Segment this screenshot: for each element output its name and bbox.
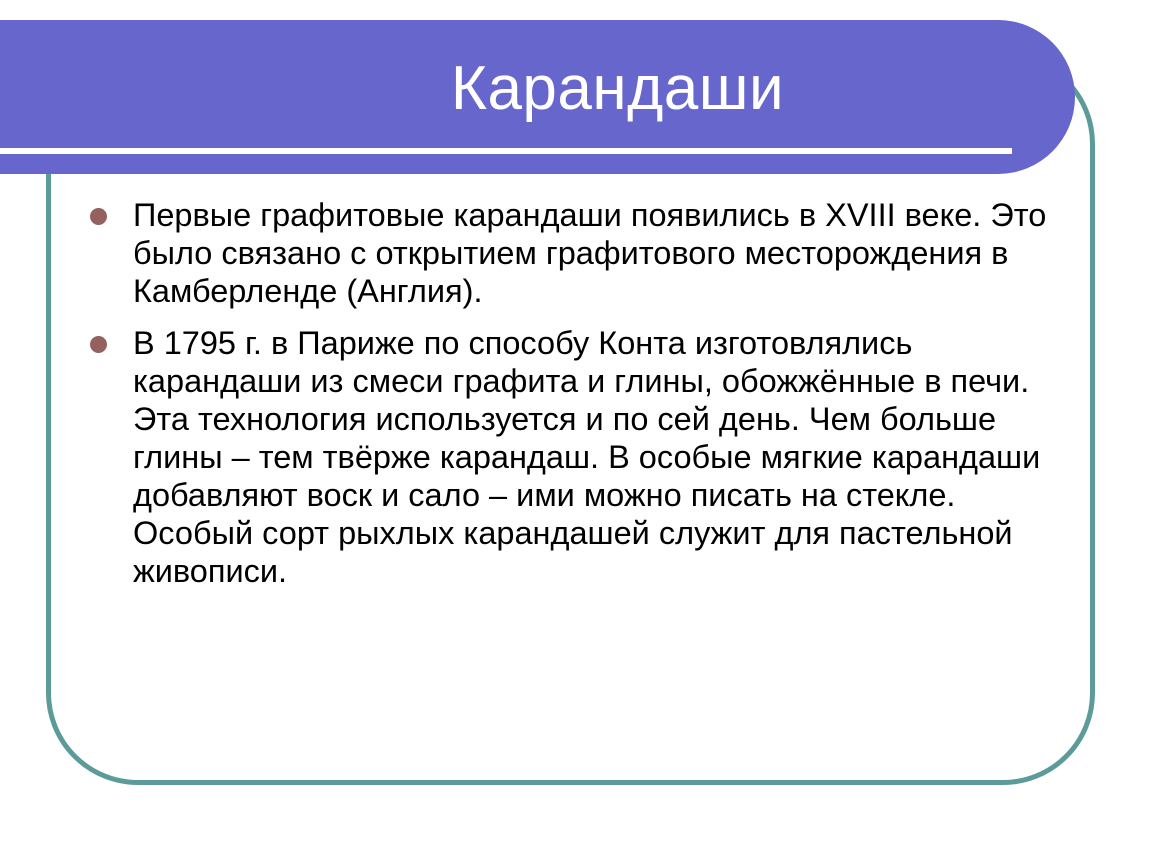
title-underline-rule — [0, 148, 1012, 154]
presentation-slide: Карандаши Первые графитовые карандаши по… — [0, 0, 1150, 864]
bullet-dot-icon — [90, 336, 107, 353]
list-item-label: Первые графитовые карандаши появились в … — [133, 196, 1068, 310]
list-item-label: В 1795 г. в Париже по способу Конта изго… — [133, 324, 1068, 590]
bullet-dot-icon — [90, 208, 107, 225]
slide-body: Первые графитовые карандаши появились в … — [78, 196, 1068, 590]
list-item: Первые графитовые карандаши появились в … — [78, 196, 1068, 310]
list-item: В 1795 г. в Париже по способу Конта изго… — [78, 324, 1068, 590]
